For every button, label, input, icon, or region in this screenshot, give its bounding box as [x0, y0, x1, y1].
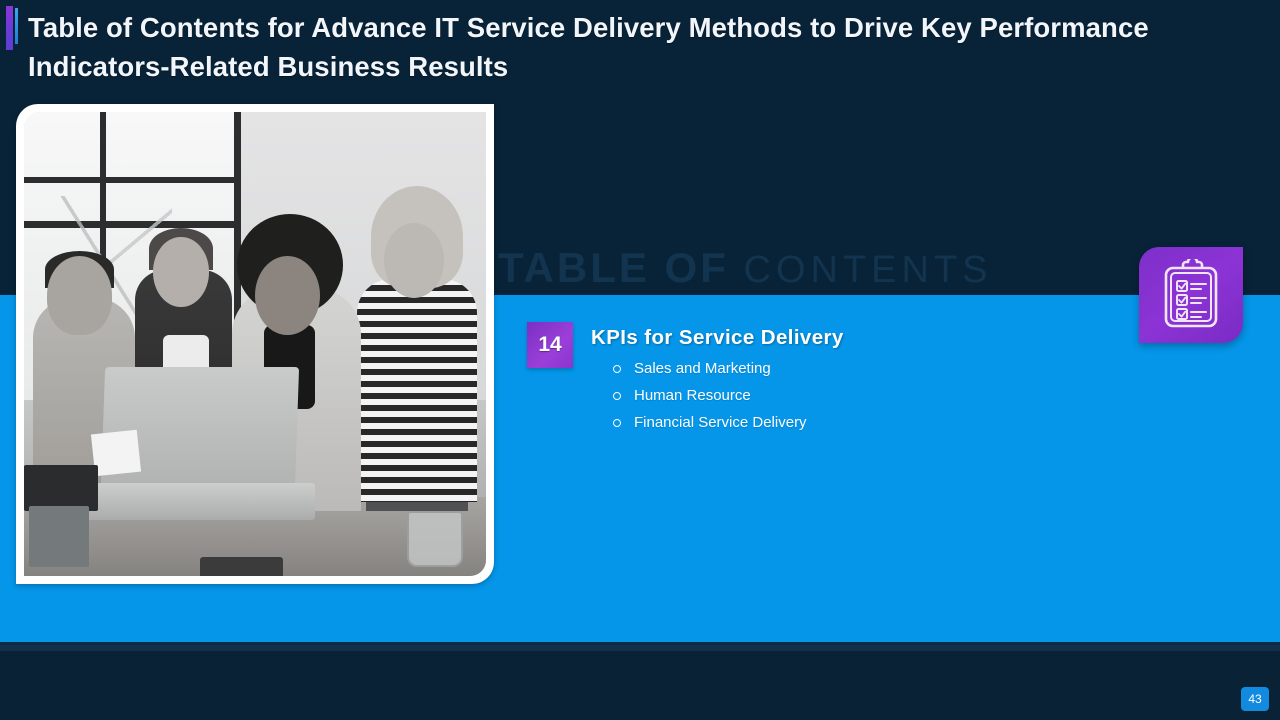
- watermark-bold-part: TABLE OF: [498, 244, 744, 291]
- photo-phone: [200, 557, 283, 576]
- photo-person-3-head: [255, 256, 320, 335]
- list-item[interactable]: Sales and Marketing: [613, 360, 844, 377]
- team-photo-frame: [16, 104, 494, 584]
- slide: Table of Contents for Advance IT Service…: [0, 0, 1280, 720]
- photo-desk-object-dark: [24, 465, 98, 511]
- photo-person-4: [357, 279, 477, 502]
- photo-person-4-head: [384, 223, 444, 297]
- clipboard-checklist-icon: [1160, 259, 1222, 331]
- photo-desk-object-blue: [29, 506, 89, 566]
- title-accent-bar-blue: [15, 8, 18, 44]
- toc-entry-number-badge: 14: [527, 322, 573, 368]
- table-of-contents-watermark: TABLE OF CONTENTS: [498, 243, 993, 295]
- bottom-dark-band-highlight: [0, 645, 1280, 651]
- watermark-light-part: CONTENTS: [744, 249, 993, 291]
- list-item[interactable]: Human Resource: [613, 387, 844, 404]
- toc-entry[interactable]: 14 KPIs for Service Delivery Sales and M…: [527, 322, 844, 441]
- photo-glass: [407, 511, 462, 567]
- slide-header: Table of Contents for Advance IT Service…: [0, 0, 1280, 96]
- bottom-dark-band: [0, 645, 1280, 720]
- photo-person-1-head: [47, 256, 112, 335]
- list-item-label: Sales and Marketing: [634, 360, 771, 377]
- circle-bullet-icon: [613, 365, 621, 373]
- circle-bullet-icon: [613, 419, 621, 427]
- list-item-label: Human Resource: [634, 387, 751, 404]
- list-item[interactable]: Financial Service Delivery: [613, 414, 844, 431]
- circle-bullet-icon: [613, 392, 621, 400]
- toc-entry-title: KPIs for Service Delivery: [591, 326, 844, 350]
- page-title: Table of Contents for Advance IT Service…: [28, 8, 1178, 86]
- clipboard-icon-tile: [1139, 247, 1243, 343]
- page-number-badge: 43: [1241, 687, 1269, 711]
- photo-sticky-note: [91, 430, 141, 476]
- list-item-label: Financial Service Delivery: [634, 414, 807, 431]
- title-accent-bar-purple: [6, 6, 13, 50]
- photo-laptop-base: [84, 483, 315, 520]
- toc-entry-body: KPIs for Service Delivery Sales and Mark…: [591, 322, 844, 441]
- photo-person-2-head: [153, 237, 208, 307]
- photo-window-mullion: [24, 177, 241, 183]
- toc-sub-list: Sales and Marketing Human Resource Finan…: [613, 360, 844, 431]
- team-photo: [24, 112, 486, 576]
